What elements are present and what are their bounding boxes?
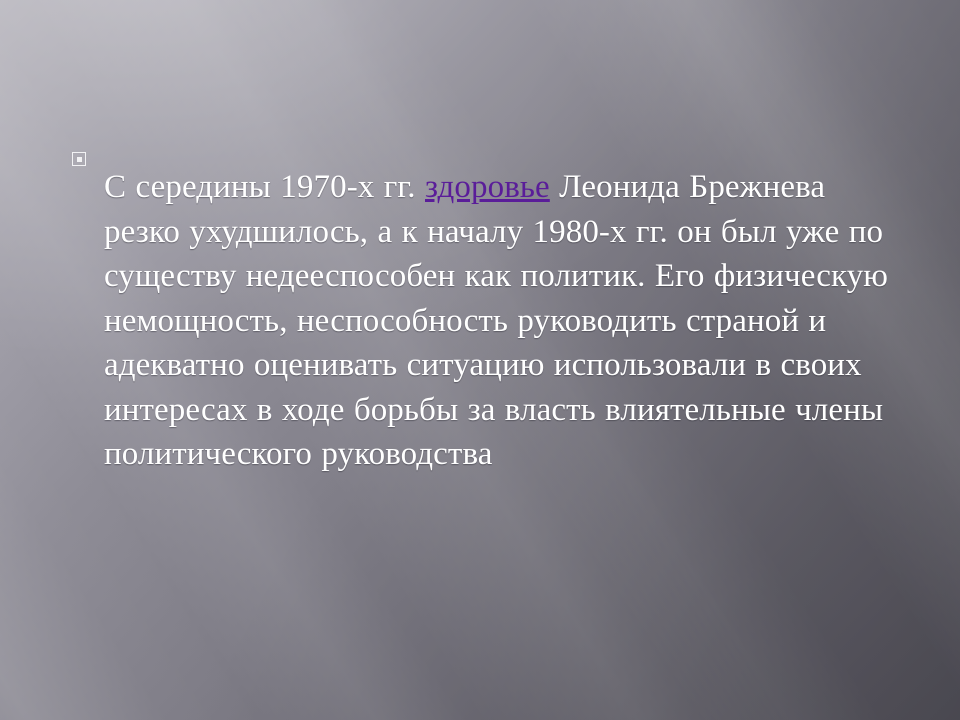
slide-body-content: С середины 1970-х гг. здоровье Леонида Б… — [72, 132, 908, 510]
bullet-list-item: С середины 1970-х гг. здоровье Леонида Б… — [72, 132, 908, 510]
body-paragraph: С середины 1970-х гг. здоровье Леонида Б… — [104, 165, 908, 477]
paragraph-text-after-link: Леонида Брежнева резко ухудшилось, а к н… — [104, 169, 888, 472]
square-bullet-inner-dot — [77, 157, 82, 162]
square-bullet-icon — [72, 152, 86, 166]
slide-canvas: С середины 1970-х гг. здоровье Леонида Б… — [0, 0, 960, 720]
hyperlink-zdorovye[interactable]: здоровье — [425, 169, 550, 205]
paragraph-text-before-link: С середины 1970-х гг. — [104, 169, 425, 205]
